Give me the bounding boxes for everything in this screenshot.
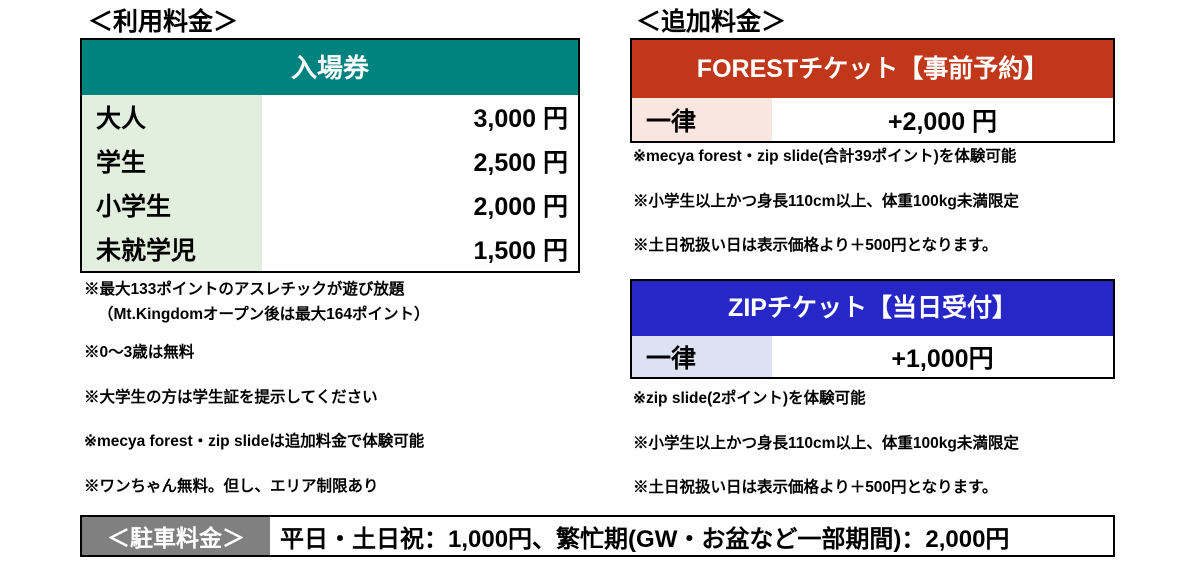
usage-fee-heading: ＜利用料金＞ xyxy=(88,2,238,38)
table-row: 学生 2,500 円 xyxy=(82,139,578,183)
note-item: ※大学生の方は学生証を提示してください xyxy=(84,389,604,408)
table-row: 小学生 2,000 円 xyxy=(82,183,578,227)
note-item: ※土日祝扱い日は表示価格より＋500円となります。 xyxy=(633,479,1113,498)
row-value: +1,000円 xyxy=(772,336,1113,377)
additional-fee-heading: ＜追加料金＞ xyxy=(636,2,786,38)
row-value: +2,000 円 xyxy=(772,98,1113,141)
entrance-ticket-rows: 大人 3,000 円 学生 2,500 円 小学生 2,000 円 未就学児 1… xyxy=(82,95,578,271)
note-item: ※土日祝扱い日は表示価格より＋500円となります。 xyxy=(633,237,1113,256)
row-label: 未就学児 xyxy=(82,227,262,271)
note-item: （Mt.Kingdomオープン後は最大164ポイント） xyxy=(84,306,604,325)
note-item: ※小学生以上かつ身長110cm以上、体重100kg未満限定 xyxy=(633,435,1113,454)
parking-fee-value: 平日・土日祝：1,000円、繁忙期(GW・お盆など一部期間)：2,000円 xyxy=(270,517,1113,555)
row-label: 小学生 xyxy=(82,183,262,227)
entrance-ticket-notes: ※最大133ポイントのアスレチックが遊び放題 （Mt.Kingdomオープン後は… xyxy=(84,281,604,497)
parking-fee-label: ＜駐車料金＞ xyxy=(82,517,270,555)
note-item: ※zip slide(2ポイント)を体験可能 xyxy=(633,390,1113,409)
forest-ticket-rows: 一律 +2,000 円 xyxy=(632,98,1113,141)
note-item: ※小学生以上かつ身長110cm以上、体重100kg未満限定 xyxy=(633,193,1113,212)
zip-ticket-table: ZIPチケット【当日受付】 一律 +1,000円 xyxy=(630,279,1115,379)
row-label: 一律 xyxy=(632,336,772,377)
table-row: 一律 +2,000 円 xyxy=(632,98,1113,141)
row-label: 学生 xyxy=(82,139,262,183)
row-label: 大人 xyxy=(82,95,262,139)
forest-ticket-title: FORESTチケット【事前予約】 xyxy=(632,40,1113,98)
forest-ticket-table: FORESTチケット【事前予約】 一律 +2,000 円 xyxy=(630,38,1115,143)
table-row: 大人 3,000 円 xyxy=(82,95,578,139)
zip-ticket-rows: 一律 +1,000円 xyxy=(632,336,1113,377)
note-item: ※mecya forest・zip slide(合計39ポイント)を体験可能 xyxy=(633,148,1113,167)
row-label: 一律 xyxy=(632,98,772,141)
note-item: ※最大133ポイントのアスレチックが遊び放題 xyxy=(84,281,604,300)
note-item: ※ワンちゃん無料。但し、エリア制限あり xyxy=(84,478,604,497)
entrance-ticket-title: 入場券 xyxy=(82,40,578,95)
note-item: ※0〜3歳は無料 xyxy=(84,344,604,363)
price-info-document: ＜利用料金＞ 入場券 大人 3,000 円 学生 2,500 円 小学生 2,0… xyxy=(0,0,1200,563)
table-row: 一律 +1,000円 xyxy=(632,336,1113,377)
row-value: 2,500 円 xyxy=(262,139,578,183)
note-item: ※mecya forest・zip slideは追加料金で体験可能 xyxy=(84,433,604,452)
row-value: 3,000 円 xyxy=(262,95,578,139)
zip-ticket-notes: ※zip slide(2ポイント)を体験可能 ※小学生以上かつ身長110cm以上… xyxy=(633,390,1113,524)
forest-ticket-notes: ※mecya forest・zip slide(合計39ポイント)を体験可能 ※… xyxy=(633,148,1113,282)
zip-ticket-title: ZIPチケット【当日受付】 xyxy=(632,281,1113,336)
entrance-ticket-table: 入場券 大人 3,000 円 学生 2,500 円 小学生 2,000 円 未就… xyxy=(80,38,580,273)
row-value: 2,000 円 xyxy=(262,183,578,227)
parking-fee-bar: ＜駐車料金＞ 平日・土日祝：1,000円、繁忙期(GW・お盆など一部期間)：2,… xyxy=(80,515,1115,557)
table-row: 未就学児 1,500 円 xyxy=(82,227,578,271)
row-value: 1,500 円 xyxy=(262,227,578,271)
